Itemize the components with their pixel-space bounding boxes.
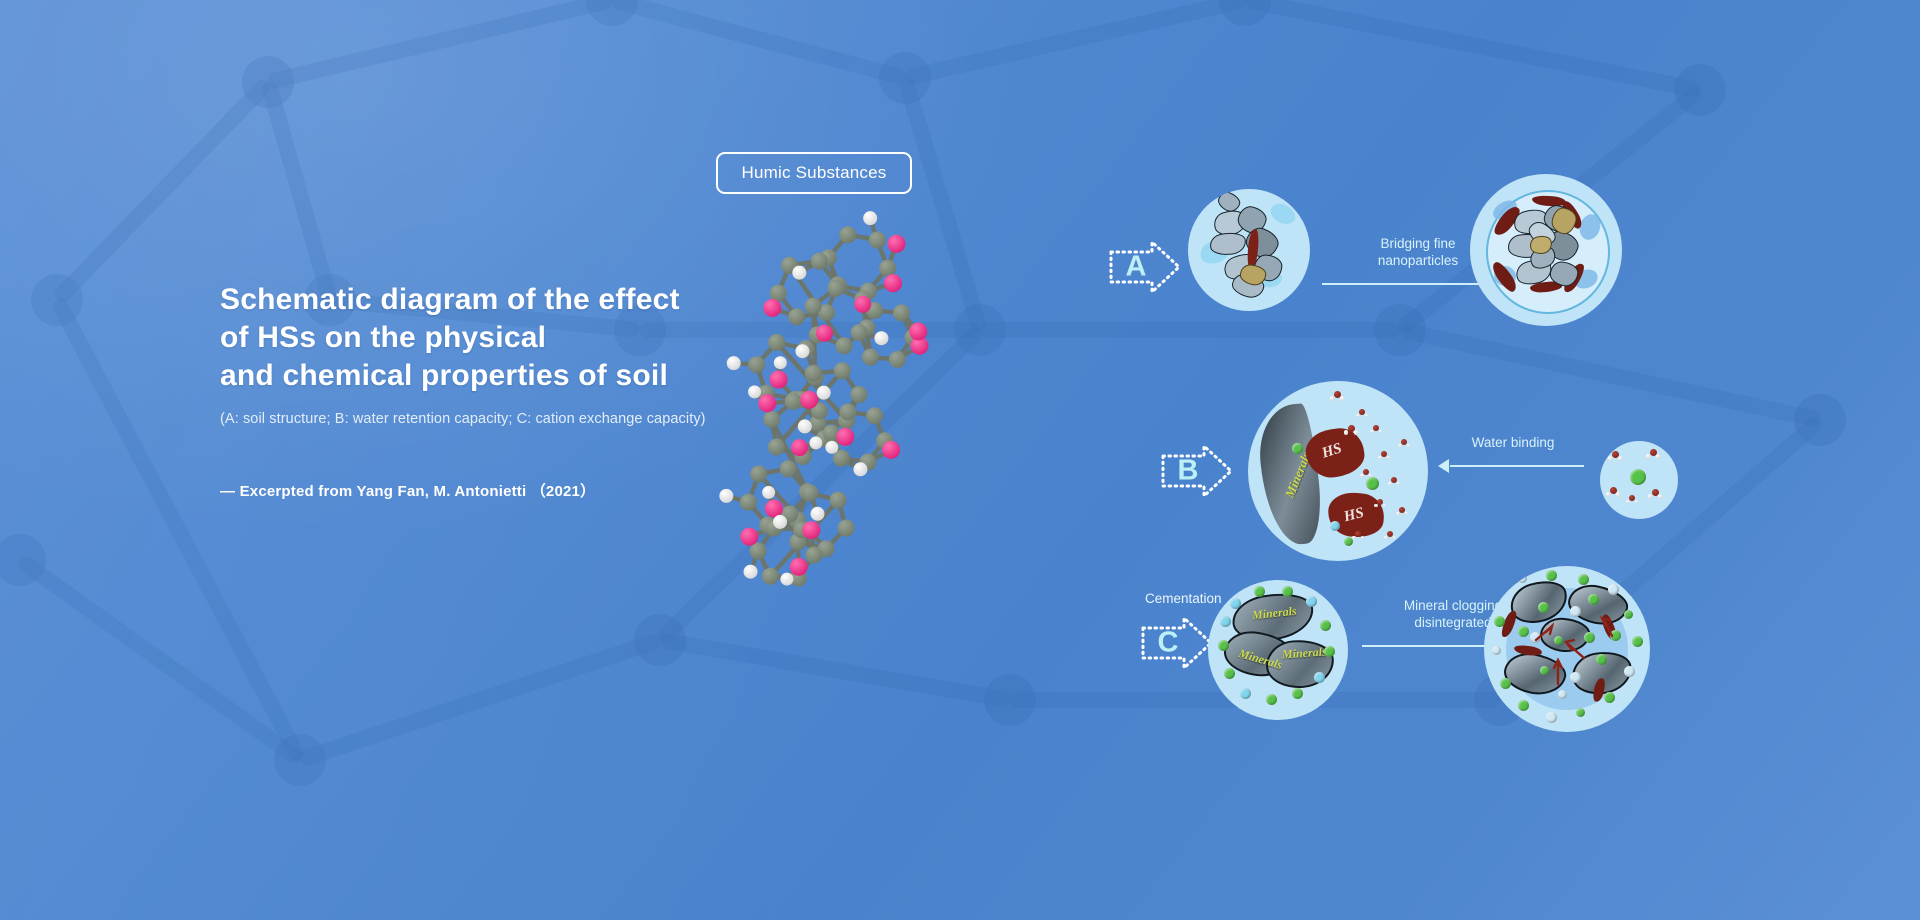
cation-sphere [1230,598,1241,609]
step-letter-c: C [1148,629,1188,658]
water-film [1267,200,1299,229]
water-molecule [1330,391,1345,403]
circle-disintegrated-minerals [1484,566,1650,732]
circle-cemented-minerals: MineralsMineralsMinerals [1208,580,1348,720]
water-molecule [1648,489,1663,501]
water-molecule [1378,451,1391,461]
circle-aggregated-particles [1470,174,1622,326]
water-molecule [1396,507,1409,517]
water-molecule [1352,531,1365,541]
water-molecule [1646,449,1661,461]
cation-sphere [1292,443,1303,454]
humic-substances-label-text: Humic Substances [742,163,887,183]
cation-sphere [1224,668,1235,679]
water-molecule [1384,531,1397,541]
connector-water-binding-arrow [1438,457,1588,475]
cation-sphere [1314,672,1325,683]
water-molecule [1370,425,1383,435]
step-arrow-b: B [1160,442,1234,500]
connector-water-binding: Water binding [1438,435,1588,475]
cation-sphere [1282,586,1293,597]
exchange-arrows [1484,566,1650,732]
minerals-label: Minerals [1282,644,1328,662]
cation-sphere [1266,694,1277,705]
step-arrow-a: A [1108,238,1182,296]
mineral-fragment [1209,231,1247,257]
cation-sphere [1320,620,1331,631]
water-molecule [1398,439,1411,449]
water-molecule [1626,495,1639,505]
water-molecule [1606,487,1621,499]
humic-substance-molecule [690,185,960,600]
infographic-canvas: Schematic diagram of the effect of HSs o… [0,0,1920,920]
step-arrow-c: C [1140,614,1214,672]
step-letter-a: A [1116,253,1156,282]
cation-sphere [1630,469,1646,485]
cation-sphere [1292,688,1303,699]
cation-sphere [1306,596,1317,607]
cation-sphere [1240,688,1251,699]
circle-hs-mineral-water-complex: MineralsHSHS [1248,381,1428,561]
cation-sphere [1220,616,1231,627]
cation-sphere [1330,521,1340,531]
circle-dispersed-particles [1188,189,1310,311]
cation-sphere [1366,477,1379,490]
water-molecule [1344,425,1359,437]
cation-sphere [1254,586,1265,597]
connector-water-binding-label: Water binding [1438,435,1588,452]
circle-free-water-molecules [1600,441,1678,519]
molecule-model [690,185,960,600]
cation-sphere [1218,640,1229,651]
cation-sphere [1344,537,1353,546]
cation-sphere [1324,646,1335,657]
water-molecule [1356,409,1369,419]
water-molecule [1374,499,1387,509]
water-molecule [1608,451,1623,463]
step-letter-b: B [1168,457,1208,486]
water-molecule [1388,477,1401,487]
